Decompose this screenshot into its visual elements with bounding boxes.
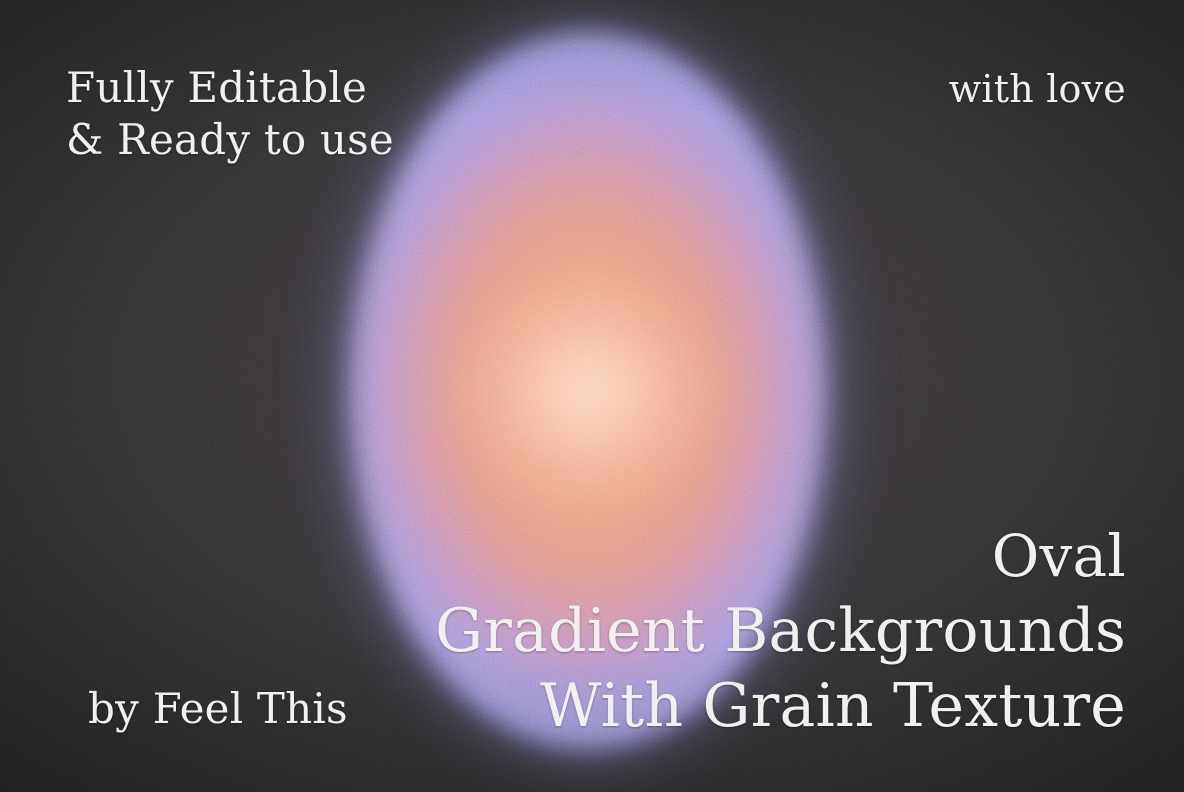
headline-line-1: Oval xyxy=(435,519,1126,594)
headline-block: Oval Gradient Backgrounds With Grain Tex… xyxy=(435,519,1126,744)
signature-top-right: with love xyxy=(949,66,1126,112)
headline-line-3: With Grain Texture xyxy=(435,669,1126,744)
byline-bottom-left: by Feel This xyxy=(88,684,348,734)
tagline-block: Fully Editable & Ready to use xyxy=(66,62,394,166)
tagline-line-1: Fully Editable xyxy=(66,62,394,114)
tagline-line-2: & Ready to use xyxy=(66,114,394,166)
headline-line-2: Gradient Backgrounds xyxy=(435,594,1126,669)
text-layer: Fully Editable & Ready to use with love … xyxy=(0,0,1184,792)
poster-canvas: Fully Editable & Ready to use with love … xyxy=(0,0,1184,792)
